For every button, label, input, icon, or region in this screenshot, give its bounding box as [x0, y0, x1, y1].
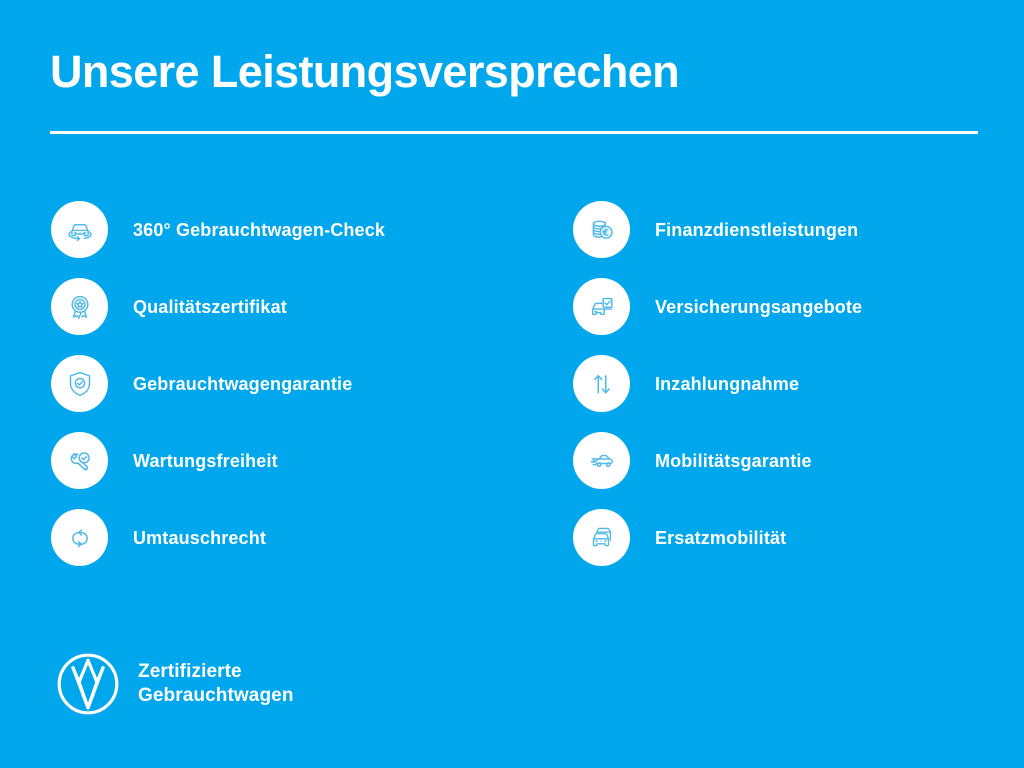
page-title: Unsere Leistungsversprechen: [50, 48, 980, 95]
feature-item[interactable]: Wartungsfreiheit: [51, 432, 521, 489]
feature-item[interactable]: Ersatzmobilität: [573, 509, 993, 566]
feature-label: Qualitätszertifikat: [133, 298, 287, 316]
brand-lockup: Zertifizierte Gebrauchtwagen: [56, 652, 294, 716]
car-checkbox-icon: [573, 278, 630, 335]
shield-check-icon: [51, 355, 108, 412]
feature-label: Mobilitätsgarantie: [655, 452, 812, 470]
feature-item[interactable]: 360° Gebrauchtwagen-Check: [51, 201, 521, 258]
header: Unsere Leistungsversprechen: [50, 48, 980, 95]
brand-text: Zertifizierte Gebrauchtwagen: [138, 660, 294, 708]
feature-item[interactable]: Gebrauchtwagengarantie: [51, 355, 521, 412]
feature-item[interactable]: Finanzdienstleistungen: [573, 201, 993, 258]
two-cars-icon: [573, 509, 630, 566]
car-speed-icon: [573, 432, 630, 489]
feature-label: Umtauschrecht: [133, 529, 266, 547]
feature-item[interactable]: Qualitätszertifikat: [51, 278, 521, 335]
brand-text-line1: Zertifizierte: [138, 660, 294, 684]
feature-label: Wartungsfreiheit: [133, 452, 278, 470]
feature-item[interactable]: Inzahlungnahme: [573, 355, 993, 412]
feature-label: Versicherungsangebote: [655, 298, 862, 316]
brand-text-line2: Gebrauchtwagen: [138, 684, 294, 708]
car-360-check-icon: [51, 201, 108, 258]
up-down-arrows-icon: [573, 355, 630, 412]
features-left-column: 360° Gebrauchtwagen-Check Qualitätszerti…: [51, 201, 521, 566]
feature-item[interactable]: Mobilitätsgarantie: [573, 432, 993, 489]
feature-label: Gebrauchtwagengarantie: [133, 375, 352, 393]
slide-root: Unsere Leistungsversprechen 3: [0, 0, 1024, 768]
volkswagen-logo: [56, 652, 120, 716]
feature-label: Finanzdienstleistungen: [655, 221, 858, 239]
feature-label: Ersatzmobilität: [655, 529, 786, 547]
coins-euro-icon: [573, 201, 630, 258]
award-rosette-icon: [51, 278, 108, 335]
exchange-arrows-icon: [51, 509, 108, 566]
feature-item[interactable]: Versicherungsangebote: [573, 278, 993, 335]
wrench-check-icon: [51, 432, 108, 489]
feature-item[interactable]: Umtauschrecht: [51, 509, 521, 566]
feature-label: 360° Gebrauchtwagen-Check: [133, 221, 385, 239]
features-grid: 360° Gebrauchtwagen-Check Qualitätszerti…: [0, 201, 1024, 566]
feature-label: Inzahlungnahme: [655, 375, 799, 393]
features-right-column: Finanzdienstleistungen Versicherungsange…: [573, 201, 993, 566]
header-divider: [50, 131, 978, 134]
